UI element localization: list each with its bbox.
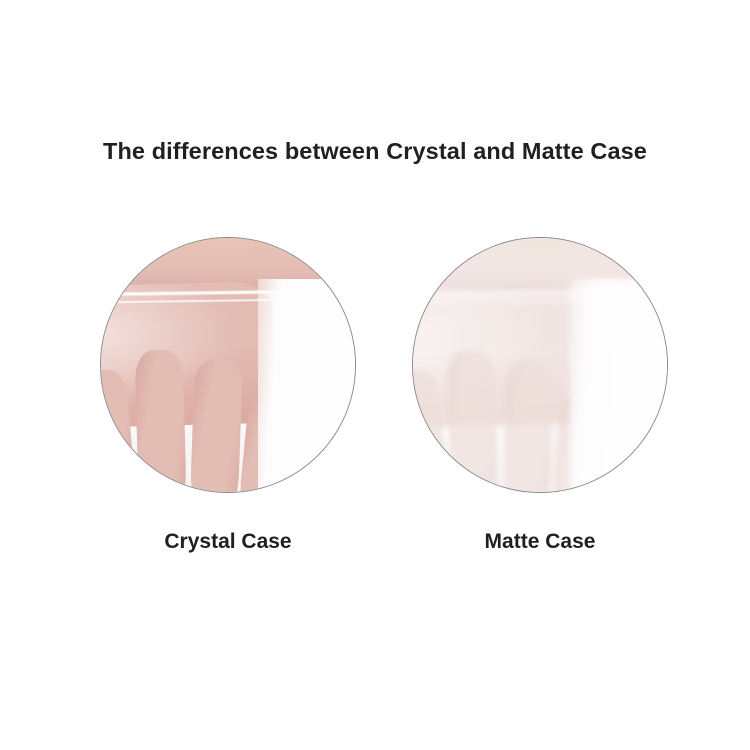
panel-crystal-case <box>100 237 356 493</box>
caption-crystal-case: Crystal Case <box>100 530 356 554</box>
hand-edge-highlight <box>570 279 668 493</box>
crystal-case-photo <box>101 238 355 492</box>
finger-ring <box>502 359 556 493</box>
page-title: The differences between Crystal and Matt… <box>0 138 750 165</box>
matte-case-photo <box>413 238 667 492</box>
caption-matte-case: Matte Case <box>412 530 668 554</box>
crystal-case-circle-photo <box>100 237 356 493</box>
finger-middle <box>134 349 187 493</box>
finger-middle <box>446 349 499 493</box>
comparison-row <box>0 237 750 493</box>
hand-edge-highlight <box>258 279 356 493</box>
product-comparison-image: The differences between Crystal and Matt… <box>0 0 750 750</box>
panel-matte-case <box>412 237 668 493</box>
matte-case-circle-photo <box>412 237 668 493</box>
finger-ring <box>190 359 244 493</box>
